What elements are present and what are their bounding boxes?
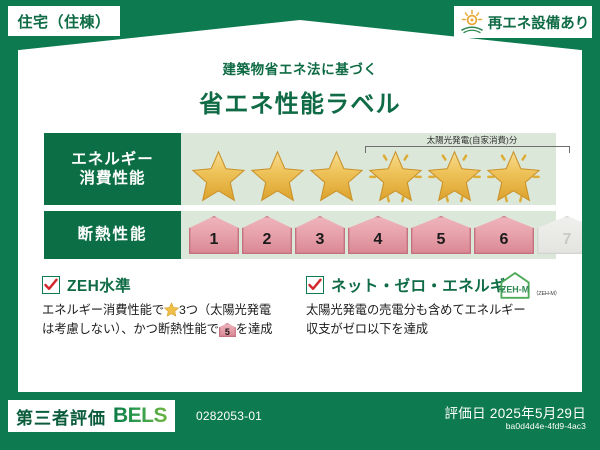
check-icon — [308, 278, 322, 292]
checkbox-zeh[interactable] — [42, 276, 60, 294]
insulation-level-4: 4 — [348, 216, 408, 254]
criterion-net-zero-energy: ネット・ゼロ・エネルギー ZEH-M （ZEH-M） 太陽光発電の売電分も含めて… — [306, 274, 560, 339]
insulation-level-1: 1 — [189, 216, 239, 254]
house-icon-inline: 5 — [219, 323, 236, 337]
bels-badge: 第三者評価 BELS — [8, 400, 175, 432]
star-icon-filled — [307, 147, 366, 203]
energy-performance-label: 住宅（住棟） 再エネ設備あり 建築物省エネ法に基づく — [0, 0, 600, 450]
energy-performance-row: エネルギー 消費性能 太陽光発電(自家消費)分 — [44, 133, 556, 205]
criterion-zeh-title: ZEH水準 — [67, 274, 131, 296]
renewable-badge-text: 再エネ設備あり — [488, 12, 590, 33]
insulation-level-6: 6 — [474, 216, 534, 254]
evaluation-date: 評価日 2025年5月29日 — [444, 402, 586, 422]
insulation-label-text: 断熱性能 — [77, 225, 147, 244]
building-type-badge: 住宅（住棟） — [8, 6, 120, 36]
energy-label-line2: 消費性能 — [79, 169, 145, 188]
bels-jp-text: 第三者評価 — [16, 404, 106, 429]
criterion-zeh-body: エネルギー消費性能で3つ（太陽光発電は考慮しない）、かつ断熱性能で5を達成 — [42, 301, 296, 339]
label-title: 省エネ性能ラベル — [36, 84, 564, 119]
criteria-section: ZEH水準 エネルギー消費性能で3つ（太陽光発電は考慮しない）、かつ断熱性能で5… — [42, 274, 560, 339]
energy-performance-label: エネルギー 消費性能 — [44, 133, 181, 205]
checkbox-net-zero-energy[interactable] — [306, 276, 324, 294]
zeh-body-line2-part1: は考慮しない）、かつ断熱性能で — [42, 322, 219, 336]
label-panel: 建築物省エネ法に基づく 省エネ性能ラベル エネルギー 消費性能 太陽光発電(自家… — [18, 20, 582, 392]
insulation-performance-label: 断熱性能 — [44, 211, 181, 259]
check-icon — [44, 278, 58, 292]
renewable-equipment-badge: 再エネ設備あり — [454, 6, 592, 38]
energy-performance-value: 太陽光発電(自家消費)分 — [181, 133, 556, 205]
zeh-body-part1: エネルギー消費性能で — [42, 303, 164, 317]
insulation-performance-value: 1234567 — [181, 211, 556, 259]
label-footer: 第三者評価 BELS 0282053-01 評価日 2025年5月29日 ba0… — [0, 394, 600, 450]
star-icon-solar — [425, 147, 484, 203]
evaluation-hash: ba0d4d4e-4fd9-4ac3 — [506, 421, 586, 431]
star-icon-filled — [248, 147, 307, 203]
zeh-body-part2: 3つ（太陽光発電 — [179, 303, 271, 317]
energy-label-line1: エネルギー — [71, 150, 154, 169]
criterion-zeh-header: ZEH水準 — [42, 274, 296, 296]
insulation-level-5: 5 — [411, 216, 471, 254]
star-icon-solar — [484, 147, 543, 203]
star-icon-inline — [164, 302, 179, 317]
insulation-level-7: 7 — [537, 216, 597, 254]
criterion-nze-body: 太陽光発電の売電分も含めてエネルギー収支がゼロ以下を達成 — [306, 301, 560, 339]
solar-generation-note: 太陽光発電(自家消費)分 — [373, 134, 571, 146]
insulation-level-2: 2 — [242, 216, 292, 254]
insulation-level-3: 3 — [295, 216, 345, 254]
star-icon-filled — [189, 147, 248, 203]
criterion-zeh: ZEH水準 エネルギー消費性能で3つ（太陽光発電は考慮しない）、かつ断熱性能で5… — [42, 274, 296, 339]
star-rating — [181, 147, 552, 203]
zeh-m-logo-caption: （ZEH-M） — [533, 289, 560, 297]
bels-certificate-number: 0282053-01 — [196, 409, 262, 423]
building-type-text: 住宅（住棟） — [17, 11, 110, 32]
bels-en-text: BELS — [113, 404, 167, 428]
insulation-level-scale: 1234567 — [189, 214, 552, 256]
nze-body-line2: 収支がゼロ以下を達成 — [306, 322, 428, 336]
zeh-body-line2-part2: を達成 — [236, 322, 273, 336]
star-icon-solar — [366, 147, 425, 203]
sun-icon — [459, 9, 485, 35]
label-subtitle: 建築物省エネ法に基づく — [36, 58, 564, 78]
svg-text:ZEH-M: ZEH-M — [501, 285, 529, 295]
insulation-performance-row: 断熱性能 1234567 — [44, 211, 556, 259]
nze-body-line1: 太陽光発電の売電分も含めてエネルギー — [306, 303, 526, 317]
criterion-nze-title: ネット・ゼロ・エネルギー — [331, 274, 522, 296]
